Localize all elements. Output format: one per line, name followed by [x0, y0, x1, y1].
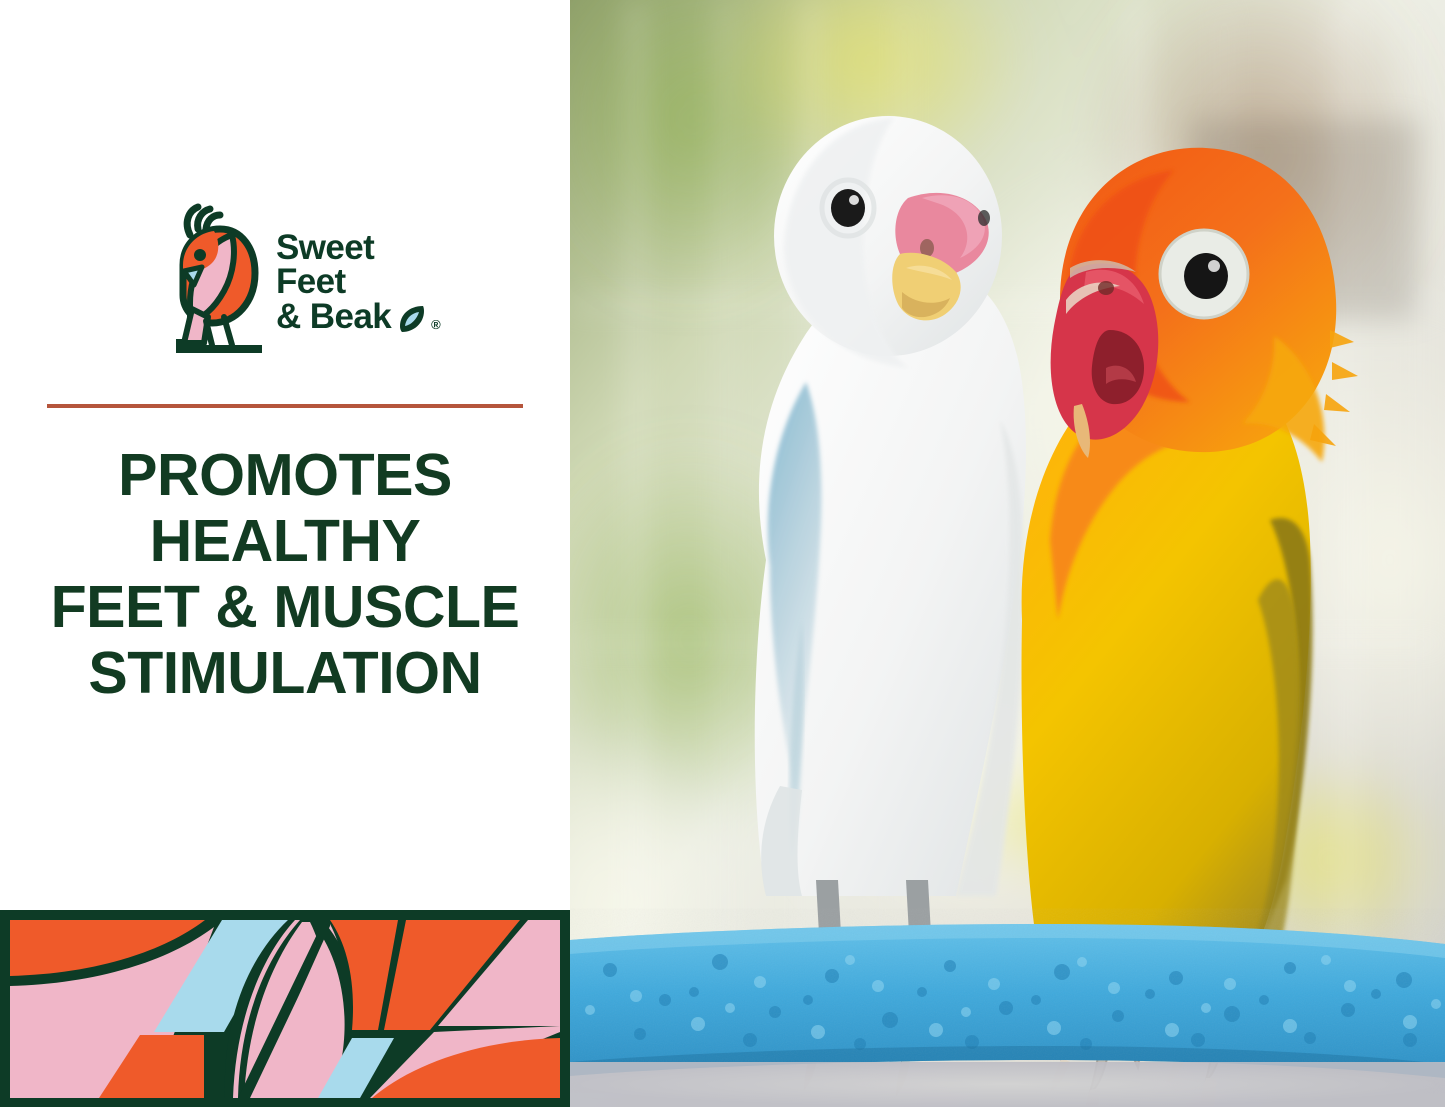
headline-line-4: STIMULATION — [30, 640, 540, 706]
headline-line-3: FEET & MUSCLE — [30, 574, 540, 640]
parrot-logo-icon — [150, 199, 262, 359]
page-title: PROMOTES HEALTHY FEET & MUSCLE STIMULATI… — [30, 442, 540, 706]
mosaic-pattern-graphic — [0, 910, 570, 1107]
brand-wordmark: Sweet Feet & Beak ® — [276, 231, 441, 334]
headline-line-1: PROMOTES — [30, 442, 540, 508]
lovebirds-photo-graphic — [570, 0, 1445, 1107]
leaf-icon — [395, 302, 429, 336]
left-info-panel: Sweet Feet & Beak ® PROMOTES HEALTHY FEE… — [0, 0, 570, 1107]
registered-trademark-symbol: ® — [431, 317, 441, 332]
mosaic-pattern-band — [0, 910, 570, 1107]
brand-name-line-3: & Beak — [276, 300, 391, 334]
brand-name-line-2: Feet — [276, 265, 441, 299]
two-lovebirds-on-blue-perch-photo — [570, 0, 1445, 1107]
headline-line-2: HEALTHY — [30, 508, 540, 574]
product-infographic-page: Sweet Feet & Beak ® PROMOTES HEALTHY FEE… — [0, 0, 1445, 1107]
orange-divider-rule — [47, 404, 523, 408]
blue-sand-perch — [570, 924, 1445, 1078]
brand-logo: Sweet Feet & Beak ® — [0, 196, 570, 361]
brand-name-line-1: Sweet — [276, 231, 441, 265]
